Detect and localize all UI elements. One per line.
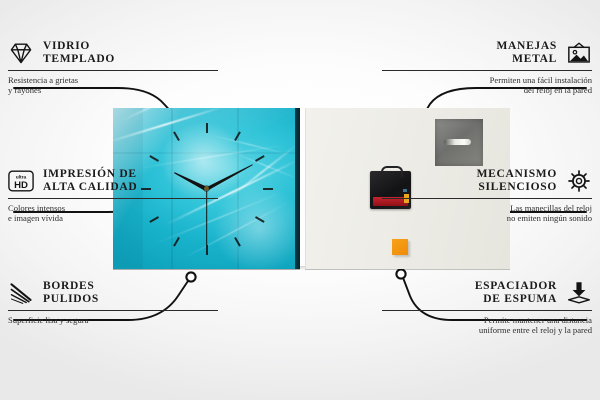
clock-tick — [173, 236, 180, 246]
feature-title: VIDRIO TEMPLADO — [43, 40, 115, 66]
clock-tick — [206, 245, 208, 255]
feature-espaciador-espuma: ESPACIADOR DE ESPUMA Permite mantener un… — [382, 280, 592, 336]
clock-tick — [206, 123, 208, 133]
feature-description: Resistencia a grietas y rayones — [8, 75, 218, 96]
feature-divider — [382, 198, 592, 199]
feature-mecanismo-silencioso: MECANISMO SILENCIOSO Las manecillas del … — [382, 168, 592, 224]
clock-tick — [263, 188, 273, 190]
hanger-slot — [444, 139, 471, 145]
feature-description: Colores intensos e imagen vívida — [8, 203, 218, 224]
feature-title: BORDES PULIDOS — [43, 280, 99, 306]
feature-divider — [382, 310, 592, 311]
feature-divider — [382, 70, 592, 71]
feature-title: ESPACIADOR DE ESPUMA — [475, 280, 557, 306]
feature-title: MECANISMO SILENCIOSO — [477, 168, 557, 194]
feature-description: Superficie lisa y segura — [8, 315, 218, 325]
feature-description: Permiten una fácil instalación del reloj… — [382, 75, 592, 96]
clock-tick — [254, 216, 264, 223]
clock-tick — [254, 155, 264, 162]
clock-tick — [173, 131, 180, 141]
picture-hanger-icon — [566, 41, 592, 65]
feature-manejas-metal: MANEJAS METAL Permiten una fácil instala… — [382, 40, 592, 96]
ultra-hd-icon: ultra HD — [8, 169, 34, 193]
feature-description: Las manecillas del reloj no emiten ningú… — [382, 203, 592, 224]
feature-description: Permite mantener una distancia uniforme … — [382, 315, 592, 336]
metal-hanger-plate — [435, 119, 483, 166]
gear-icon — [566, 169, 592, 193]
clock-tick — [149, 155, 159, 162]
feature-divider — [8, 70, 218, 71]
feature-title: MANEJAS METAL — [497, 40, 558, 66]
polished-edges-icon — [8, 281, 34, 305]
feature-divider — [8, 310, 218, 311]
svg-text:HD: HD — [14, 180, 28, 191]
feature-bordes-pulidos: BORDES PULIDOS Superficie lisa y segura — [8, 280, 218, 325]
feature-divider — [8, 198, 218, 199]
clock-tick — [234, 131, 241, 141]
foam-spacer — [392, 239, 408, 255]
clock-front-edge — [295, 108, 300, 269]
feature-vidrio-templado: VIDRIO TEMPLADO Resistencia a grietas y … — [8, 40, 218, 96]
feature-impresion-alta-calidad: ultra HD IMPRESIÓN DE ALTA CALIDAD Color… — [8, 168, 218, 224]
infographic-canvas: VIDRIO TEMPLADO Resistencia a grietas y … — [0, 0, 600, 400]
feature-title: IMPRESIÓN DE ALTA CALIDAD — [43, 168, 137, 194]
arrow-down-layers-icon — [566, 281, 592, 305]
clock-tick — [234, 236, 241, 246]
diamond-icon — [8, 41, 34, 65]
